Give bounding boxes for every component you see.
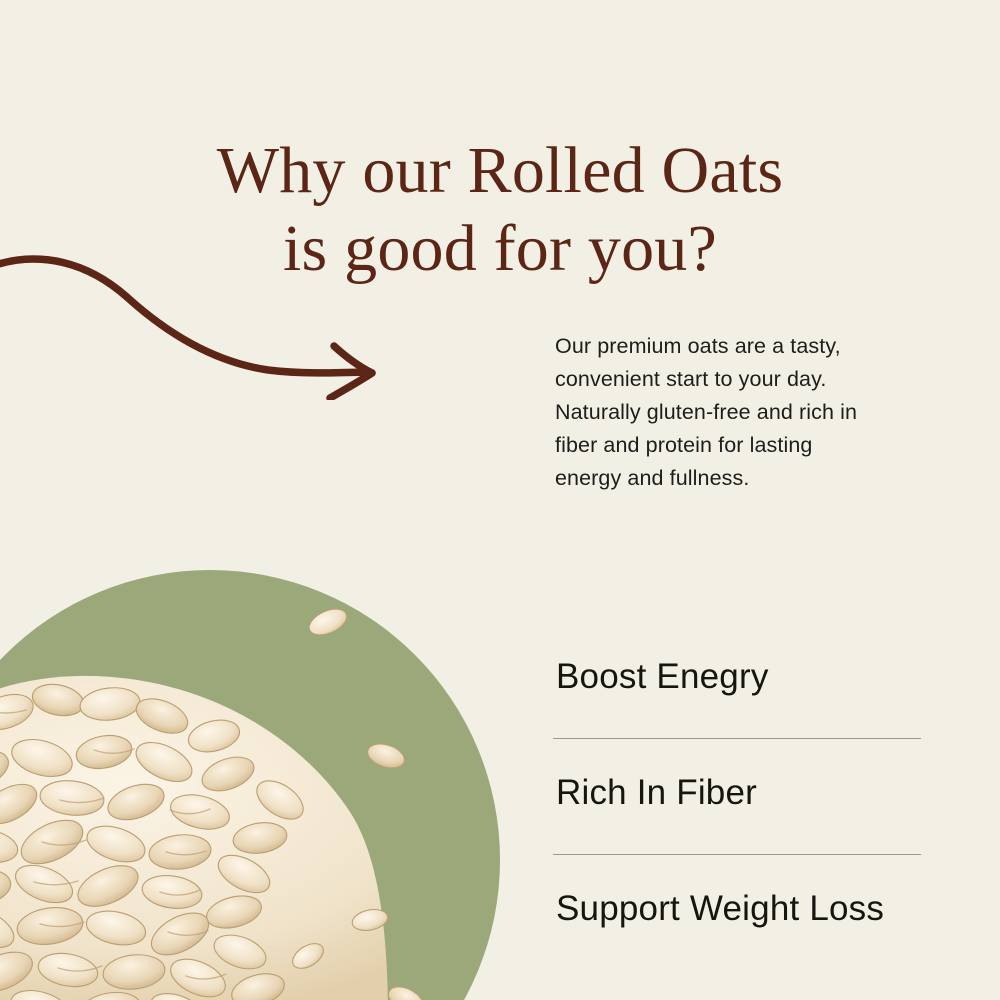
description-paragraph: Our premium oats are a tasty, convenient… — [555, 330, 873, 495]
list-item: Support Weight Loss — [553, 855, 921, 930]
list-item: Rich In Fiber — [553, 739, 921, 854]
benefits-list: Boost Enegry Rich In Fiber Support Weigh… — [553, 655, 921, 930]
promo-poster: Why our Rolled Oats is good for you? — [0, 0, 1000, 1000]
rolled-oats-image — [0, 360, 510, 1000]
page-title: Why our Rolled Oats is good for you? — [0, 132, 1000, 288]
product-artwork — [0, 360, 510, 1000]
list-item: Boost Enegry — [553, 655, 921, 738]
